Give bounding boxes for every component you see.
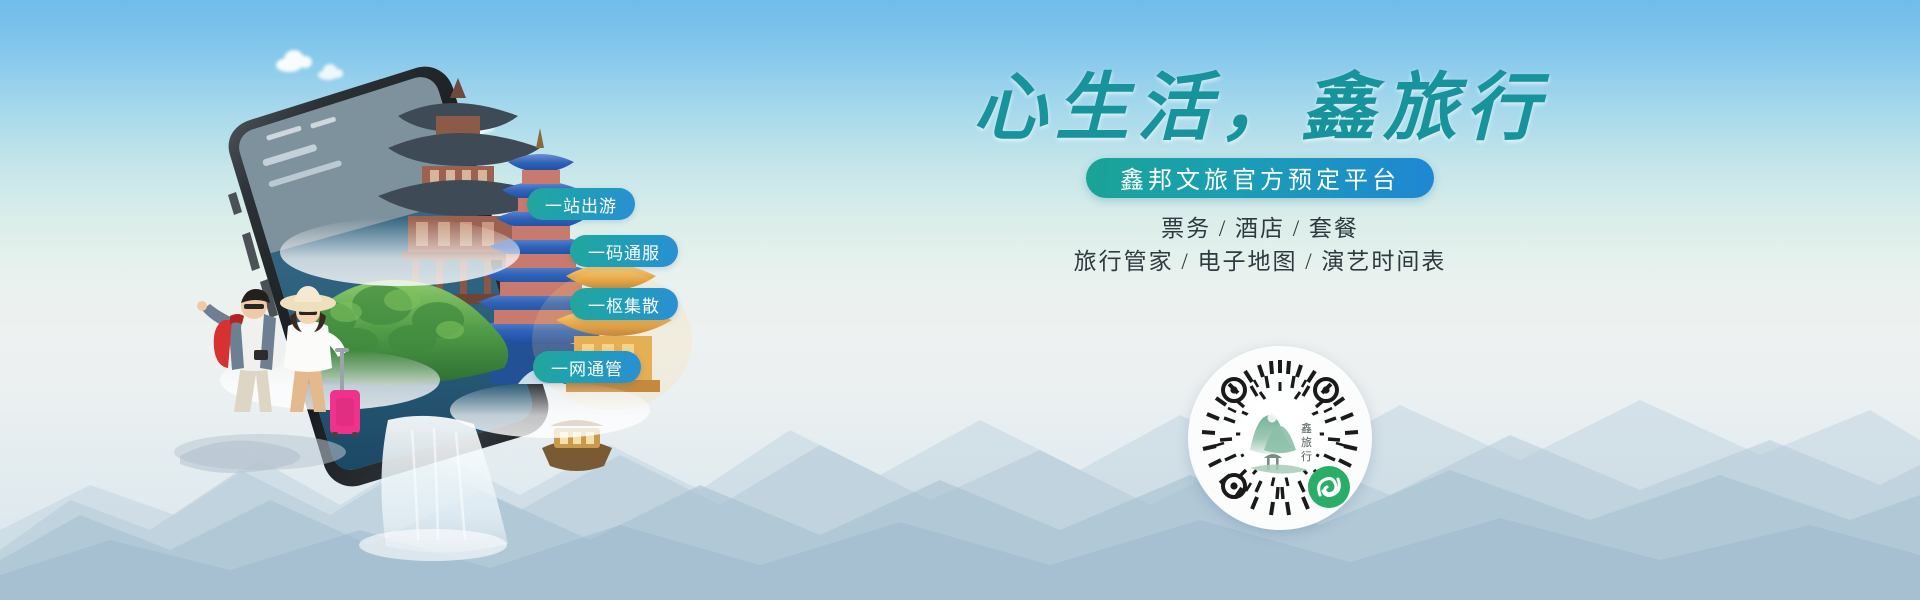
promo-banner: 一站出游 一码通服 一枢集散 一网通管 心生活，鑫旅行 鑫邦文旅官方预定平台 票…	[0, 0, 1920, 600]
headline: 心生活，鑫旅行	[880, 70, 1640, 150]
feature-pill-label: 一枢集散	[588, 292, 660, 317]
brand-pill[interactable]: 鑫邦文旅官方预定平台	[1086, 158, 1434, 198]
feature-pill-yishujisan[interactable]: 一枢集散	[570, 288, 678, 320]
feature-pill-label: 一网通管	[551, 355, 623, 380]
service-list: 票务 / 酒店 / 套餐 旅行管家 / 电子地图 / 演艺时间表	[880, 212, 1640, 279]
feature-pill-yimatongfu[interactable]: 一码通服	[570, 235, 678, 267]
brand-pill-label: 鑫邦文旅官方预定平台	[1120, 160, 1400, 195]
qr-logo-brand-char-3: 行	[1301, 450, 1312, 463]
qr-code-disc: 鑫 旅 行	[1188, 346, 1372, 530]
service-line-2: 旅行管家 / 电子地图 / 演艺时间表	[880, 245, 1640, 278]
qr-code[interactable]: 鑫 旅 行	[1188, 346, 1372, 530]
promo-text-block: 心生活，鑫旅行 鑫邦文旅官方预定平台 票务 / 酒店 / 套餐 旅行管家 / 电…	[880, 70, 1640, 279]
wechat-mini-program-badge-icon	[1308, 466, 1350, 508]
feature-pill-label: 一站出游	[545, 192, 617, 217]
feature-pill-yiwangtongguan[interactable]: 一网通管	[533, 351, 641, 383]
service-line-1: 票务 / 酒店 / 套餐	[880, 212, 1640, 245]
feature-pill-label: 一码通服	[588, 239, 660, 264]
feature-pill-yizhanchuyou[interactable]: 一站出游	[527, 188, 635, 220]
qr-logo-brand-char-1: 鑫	[1301, 421, 1312, 435]
qr-center-logo: 鑫 旅 行	[1240, 398, 1320, 478]
qr-logo-brand-char-2: 旅	[1301, 435, 1312, 449]
